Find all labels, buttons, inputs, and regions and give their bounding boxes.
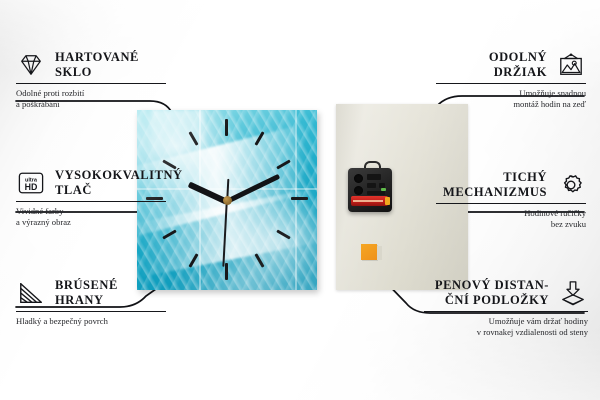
feature-foam-spacers: PENOVÝ DISTAN- ČNÍ PODLOŽKY Umožňuje vám…	[424, 278, 588, 338]
battery-label	[353, 200, 383, 202]
feature-title: TICHÝ MECHANIZMUS	[443, 170, 547, 199]
battery-terminal	[385, 197, 390, 205]
feature-title: VYSOKOKVALITNÝ TLAČ	[55, 168, 183, 197]
feature-title: BRÚSENÉ HRANY	[55, 278, 118, 307]
feature-title: PENOVÝ DISTAN- ČNÍ PODLOŽKY	[435, 278, 549, 307]
press-layers-icon	[558, 280, 588, 306]
feature-durable-hanger: ODOLNÝ DRŽIAK Umožňuje snadnou montáž ho…	[436, 50, 586, 110]
feature-tempered-glass: HARTOVANÉ SKLO Odolné proti rozbití a po…	[16, 50, 166, 110]
divider	[424, 311, 588, 312]
divider	[16, 311, 166, 312]
ultra-hd-icon: ultra HD	[16, 170, 46, 196]
foam-spacer-shadow	[377, 246, 382, 260]
divider	[436, 203, 586, 204]
divider	[16, 83, 166, 84]
polished-edge-icon	[16, 280, 46, 306]
ultra-hd-icon-bottom: HD	[25, 181, 38, 191]
feature-subtitle: Hodinové ručičky bez zvuku	[436, 208, 586, 230]
feature-subtitle: Umožňuje snadnou montáž hodin na zeď	[436, 88, 586, 110]
mechanism-label	[381, 188, 386, 191]
infographic-canvas: HARTOVANÉ SKLO Odolné proti rozbití a po…	[0, 0, 600, 400]
gear-icon	[556, 172, 586, 198]
feature-subtitle: Odolné proti rozbití a poškrábání	[16, 88, 166, 110]
feature-title: ODOLNÝ DRŽIAK	[489, 50, 547, 79]
feature-subtitle: Vividné farby a výrazný obraz	[16, 206, 166, 228]
divider	[436, 83, 586, 84]
feature-silent-mechanism: TICHÝ MECHANIZMUS Hodinové ručičky bez z…	[436, 170, 586, 230]
feature-title: HARTOVANÉ SKLO	[55, 50, 139, 79]
divider	[16, 201, 166, 202]
foam-spacer-pad	[361, 244, 377, 260]
feature-high-quality-print: ultra HD VYSOKOKVALITNÝ TLAČ Vividné far…	[16, 168, 166, 228]
feature-subtitle: Umožňuje vám držať hodiny v rovnakej vzd…	[424, 316, 588, 338]
framed-picture-icon	[556, 52, 586, 78]
diamond-icon	[16, 52, 46, 78]
feature-polished-edges: BRÚSENÉ HRANY Hladký a bezpečný povrch	[16, 278, 166, 327]
feature-subtitle: Hladký a bezpečný povrch	[16, 316, 166, 327]
